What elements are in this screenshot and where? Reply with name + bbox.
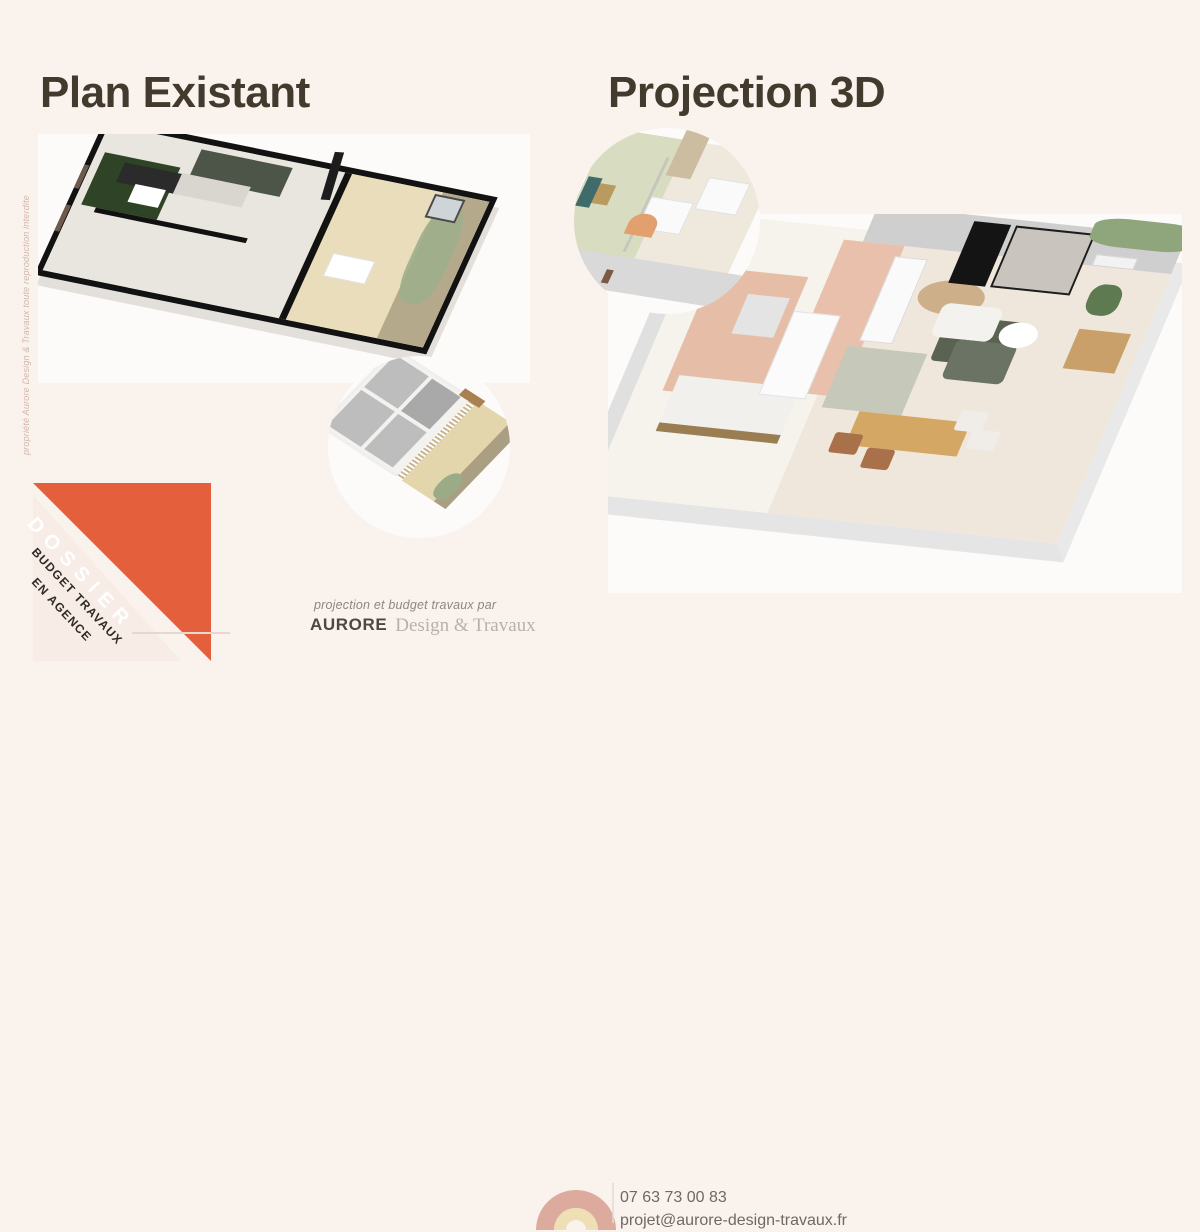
plan-existant-etage-inset <box>328 356 510 538</box>
contact-phone[interactable]: 07 63 73 00 83 <box>620 1186 847 1209</box>
brand-subtitle: Design & Travaux <box>395 616 535 635</box>
footer-brand-block: projection et budget travaux par AURORE … <box>310 598 536 635</box>
plan-existant-render <box>38 134 530 383</box>
rainbow-arc-logo <box>530 1184 622 1232</box>
footer-contact-block: 07 63 73 00 83 projet@aurore-design-trav… <box>620 1186 847 1232</box>
footer-tagline: projection et budget travaux par <box>314 598 536 612</box>
page-title-left: Plan Existant <box>40 68 310 118</box>
vertical-copyright-text: propriété Aurore Design & Travaux toute … <box>21 185 31 465</box>
brand-underline <box>132 632 230 634</box>
panel-plan-existant <box>38 134 530 383</box>
brand-name: AURORE <box>310 615 387 635</box>
slide-canvas: Plan Existant Projection 3D propriété Au… <box>0 0 1200 674</box>
footer: projection et budget travaux par AURORE … <box>0 590 1200 660</box>
projection-3d-etage-inset <box>574 128 760 314</box>
page-title-right: Projection 3D <box>608 68 885 118</box>
contact-divider <box>612 1181 620 1225</box>
contact-email[interactable]: projet@aurore-design-travaux.fr <box>620 1209 847 1232</box>
